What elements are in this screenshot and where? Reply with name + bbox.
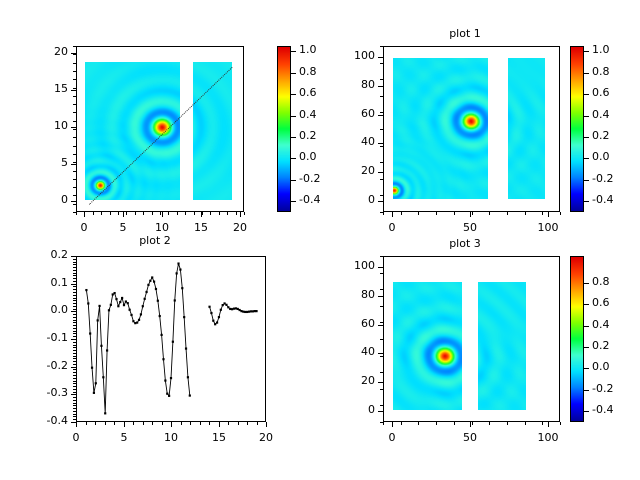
plot0-y-minor-tick	[73, 71, 76, 72]
plot0-y-minor-tick	[73, 162, 76, 163]
plot2-data-point	[231, 308, 233, 310]
plot1-y-ticklabel: 80	[333, 78, 375, 91]
plot3-x-tick	[392, 422, 393, 427]
plot2-y-minor-tick	[73, 322, 76, 323]
plot3-x-minor-tick	[525, 422, 526, 425]
plot2-data-point	[110, 304, 112, 306]
plot3-y-ticklabel: 20	[333, 374, 375, 387]
plot1-y-tick	[378, 115, 383, 116]
plot0-y-minor-tick	[73, 46, 76, 47]
plot2-data-point	[233, 308, 235, 310]
plot1-y-minor-tick	[380, 63, 383, 64]
plot3-image-panel	[478, 282, 526, 410]
plot0-x-tick	[84, 212, 85, 217]
plot1-y-ticklabel: 100	[333, 49, 375, 62]
plot2-data-point	[100, 345, 102, 347]
plot2-data-point	[210, 312, 212, 314]
plot2-y-minor-tick	[73, 320, 76, 321]
plot2-data-point	[187, 376, 189, 378]
plot0-y-minor-tick	[73, 137, 76, 138]
plot1-colorbar-tick	[584, 137, 589, 138]
plot3-x-minor-tick	[489, 422, 490, 425]
plot3-x-minor-tick	[472, 422, 473, 425]
plot1-colorbar-ticklabel: 0.2	[592, 129, 610, 142]
plot3-colorbar-tick	[584, 411, 589, 412]
plot0-colorbar-tick	[291, 94, 296, 95]
plot1-y-ticklabel: 0	[333, 193, 375, 206]
plot3-title: plot 3	[340, 237, 590, 250]
plot2-y-tick	[71, 367, 76, 368]
plot2-x-tick	[219, 422, 220, 427]
plot2-y-minor-tick	[73, 295, 76, 296]
plot0-y-minor-tick	[73, 63, 76, 64]
plot0-y-minor-tick	[73, 54, 76, 55]
plot1-x-minor-tick	[507, 212, 508, 215]
plot2-x-tick	[266, 422, 267, 427]
plot0-y-minor-tick	[73, 146, 76, 147]
plot1-x-tick	[392, 212, 393, 217]
plot2-y-tick	[71, 339, 76, 340]
plot2-data-point	[216, 322, 218, 324]
plot2-data-point	[252, 310, 254, 312]
plot2-x-tick	[124, 422, 125, 427]
plot1-colorbar-tick	[584, 116, 589, 117]
plot2-data-point	[151, 276, 153, 278]
plot2-y-minor-tick	[73, 372, 76, 373]
plot0-colorbar-tick	[291, 180, 296, 181]
plot3-x-ticklabel: 100	[524, 431, 572, 444]
plot2-data-point	[242, 311, 244, 313]
plot3-x-tick	[548, 422, 549, 427]
plot0-y-tick	[71, 90, 76, 91]
plot2-data-point	[119, 301, 121, 303]
plot3-y-minor-tick	[380, 273, 383, 274]
plot0-y-tick	[71, 164, 76, 165]
plot0-x-minor-tick	[135, 212, 136, 215]
plot2-data-point	[177, 262, 179, 264]
plot1-colorbar-ticklabel: -0.2	[592, 172, 613, 185]
plot3-y-tick	[378, 353, 383, 354]
plot1-y-minor-tick	[380, 46, 383, 47]
plot1-colorbar-tick	[584, 73, 589, 74]
plot2-data-point	[127, 302, 129, 304]
plot3-x-minor-tick	[542, 422, 543, 425]
plot2-data-point	[159, 315, 161, 317]
plot2-data-point	[153, 281, 155, 283]
plot2-data-point	[108, 309, 110, 311]
plot2-y-minor-tick	[73, 353, 76, 354]
plot2-data-point	[93, 392, 95, 394]
plot2-x-minor-tick	[238, 422, 239, 425]
plot0-y-minor-tick	[73, 179, 76, 180]
plot2-data-point	[138, 319, 140, 321]
plot2-y-tick	[71, 256, 76, 257]
plot2-y-tick	[71, 422, 76, 423]
plot2-y-minor-tick	[73, 306, 76, 307]
plot0-image-panel	[193, 62, 232, 200]
plot2-data-point	[164, 379, 166, 381]
plot2-y-minor-tick	[73, 375, 76, 376]
plot2-x-minor-tick	[105, 422, 106, 425]
plot2-y-minor-tick	[73, 364, 76, 365]
plot3-x-ticklabel: 50	[446, 431, 494, 444]
plot2-y-minor-tick	[73, 298, 76, 299]
plot3-y-minor-tick	[380, 422, 383, 423]
plot0-colorbar-ticklabel: -0.2	[299, 172, 320, 185]
plot1-y-tick	[378, 172, 383, 173]
plot2-y-minor-tick	[73, 325, 76, 326]
plot2-y-minor-tick	[73, 403, 76, 404]
plot1-y-tick	[378, 143, 383, 144]
plot1-y-minor-tick	[380, 112, 383, 113]
plot0-y-minor-tick	[73, 129, 76, 130]
plot2-x-minor-tick	[95, 422, 96, 425]
plot3-colorbar-tick	[584, 283, 589, 284]
plot2-data-point	[91, 367, 93, 369]
plot2-y-minor-tick	[73, 309, 76, 310]
plot2-x-minor-tick	[228, 422, 229, 425]
plot3-colorbar-ticklabel: 0.8	[592, 275, 610, 288]
plot3-colorbar-ticklabel: -0.2	[592, 382, 613, 395]
plot0-colorbar-ticklabel: -0.4	[299, 193, 320, 206]
plot2-x-tick	[171, 422, 172, 427]
plot2-data-point	[89, 332, 91, 334]
plot2-y-ticklabel: -0.3	[26, 386, 68, 399]
plot3-y-tick	[378, 296, 383, 297]
plot0-x-minor-tick	[76, 212, 77, 215]
plot2-data-point	[222, 304, 224, 306]
plot2-data-point	[95, 382, 97, 384]
plot2-data-point	[130, 314, 132, 316]
plot0-y-ticklabel: 10	[26, 119, 68, 132]
plot2-y-minor-tick	[73, 356, 76, 357]
plot2-series-path	[210, 303, 257, 324]
plot2-data-point	[106, 349, 108, 351]
plot0-x-minor-tick	[110, 212, 111, 215]
plot2-data-point	[235, 307, 237, 309]
plot0-y-minor-tick	[73, 79, 76, 80]
plot0-x-minor-tick	[210, 212, 211, 215]
plot0-y-ticklabel: 20	[26, 45, 68, 58]
plot2-data-point	[208, 306, 210, 308]
plot2-y-tick	[71, 284, 76, 285]
plot0-x-tick	[162, 212, 163, 217]
plot2-y-minor-tick	[73, 350, 76, 351]
plot1-x-minor-tick	[560, 212, 561, 215]
plot2-y-ticklabel: 0.0	[26, 303, 68, 316]
plot2-x-minor-tick	[209, 422, 210, 425]
plot2-data-point	[166, 393, 168, 395]
plot2-line-canvas	[77, 257, 265, 421]
plot2-data-point	[170, 377, 172, 379]
plot2-y-minor-tick	[73, 300, 76, 301]
plot2-x-minor-tick	[162, 422, 163, 425]
plot1-x-minor-tick	[454, 212, 455, 215]
plot2-y-ticklabel: -0.1	[26, 331, 68, 344]
plot1-y-minor-tick	[380, 79, 383, 80]
plot2-data-point	[254, 310, 256, 312]
plot2-y-minor-tick	[73, 278, 76, 279]
plot1-colorbar-ticklabel: 1.0	[592, 43, 610, 56]
plot1-y-ticklabel: 40	[333, 135, 375, 148]
plot0-y-ticklabel: 5	[26, 156, 68, 169]
plot2-x-minor-tick	[257, 422, 258, 425]
plot2-data-point	[144, 298, 146, 300]
plot2-y-minor-tick	[73, 361, 76, 362]
plot2-data-point	[140, 313, 142, 315]
plot0-x-minor-tick	[126, 212, 127, 215]
plot2-data-point	[183, 316, 185, 318]
plot1-colorbar-tick	[584, 180, 589, 181]
plot1-y-minor-tick	[380, 212, 383, 213]
plot2-y-minor-tick	[73, 389, 76, 390]
plot1-image-panel	[393, 58, 488, 199]
plot1-colorbar-ticklabel: -0.4	[592, 193, 613, 206]
plot1-x-minor-tick	[436, 212, 437, 215]
plot0-x-tick	[240, 212, 241, 217]
plot2-y-ticklabel: 0.2	[26, 248, 68, 261]
plot2-data-point	[161, 334, 163, 336]
plot2-data-point	[142, 305, 144, 307]
plot2-data-point	[129, 309, 131, 311]
plot3-axes[interactable]	[383, 256, 560, 422]
plot1-x-minor-tick	[489, 212, 490, 215]
plot2-data-point	[255, 310, 257, 312]
plot1-colorbar-tick	[584, 201, 589, 202]
plot2-data-point	[157, 300, 159, 302]
plot2-x-minor-tick	[181, 422, 182, 425]
plot1-x-ticklabel: 100	[524, 221, 572, 234]
plot0-axes[interactable]	[76, 46, 244, 212]
plot3-colorbar-tick	[584, 368, 589, 369]
plot3-x-minor-tick	[507, 422, 508, 425]
plot0-y-minor-tick	[73, 96, 76, 97]
plot1-axes[interactable]	[383, 46, 560, 212]
plot0-colorbar-tick	[291, 116, 296, 117]
plot0-y-tick	[71, 53, 76, 54]
plot0-colorbar-ticklabel: 0.8	[299, 65, 317, 78]
plot0-x-minor-tick	[118, 212, 119, 215]
plot3-y-ticklabel: 100	[333, 259, 375, 272]
plot3-y-minor-tick	[380, 322, 383, 323]
plot0-y-minor-tick	[73, 187, 76, 188]
plot1-title: plot 1	[340, 27, 590, 40]
plot2-data-point	[229, 308, 231, 310]
plot2-data-point	[214, 323, 216, 325]
plot0-x-minor-tick	[244, 212, 245, 215]
plot2-y-minor-tick	[73, 411, 76, 412]
plot2-y-minor-tick	[73, 381, 76, 382]
plot2-y-minor-tick	[73, 273, 76, 274]
plot2-x-ticklabel: 10	[147, 431, 195, 444]
plot1-y-minor-tick	[380, 96, 383, 97]
plot1-x-tick	[548, 212, 549, 217]
plot2-data-point	[162, 358, 164, 360]
plot0-x-minor-tick	[101, 212, 102, 215]
plot2-x-minor-tick	[152, 422, 153, 425]
plot0-y-minor-tick	[73, 112, 76, 113]
plot2-y-minor-tick	[73, 347, 76, 348]
plot3-y-minor-tick	[380, 306, 383, 307]
plot2-y-ticklabel: -0.4	[26, 414, 68, 427]
plot3-y-minor-tick	[380, 372, 383, 373]
plot3-x-minor-tick	[560, 422, 561, 425]
plot3-x-minor-tick	[401, 422, 402, 425]
plot0-y-minor-tick	[73, 88, 76, 89]
plot3-y-minor-tick	[380, 289, 383, 290]
plot2-data-point	[97, 319, 99, 321]
plot1-y-ticklabel: 20	[333, 164, 375, 177]
plot2-data-point	[155, 288, 157, 290]
plot1-x-minor-tick	[401, 212, 402, 215]
plot2-data-point	[147, 284, 149, 286]
plot2-series-path	[86, 264, 189, 414]
plot2-y-minor-tick	[73, 408, 76, 409]
plot2-data-point	[121, 297, 123, 299]
plot2-data-point	[237, 308, 239, 310]
plot2-data-point	[172, 341, 174, 343]
plot2-data-point	[102, 376, 104, 378]
plot1-y-tick	[378, 57, 383, 58]
plot0-y-minor-tick	[73, 212, 76, 213]
plot2-data-point	[227, 306, 229, 308]
plot2-data-point	[123, 304, 125, 306]
plot2-data-point	[149, 280, 151, 282]
plot0-x-minor-tick	[143, 212, 144, 215]
plot0-x-minor-tick	[202, 212, 203, 215]
plot1-y-minor-tick	[380, 195, 383, 196]
plot3-y-tick	[378, 411, 383, 412]
plot1-colorbar-tick	[584, 158, 589, 159]
plot2-y-minor-tick	[73, 317, 76, 318]
plot2-y-ticklabel: -0.2	[26, 359, 68, 372]
plot1-y-minor-tick	[380, 129, 383, 130]
plot2-y-minor-tick	[73, 303, 76, 304]
plot2-y-minor-tick	[73, 378, 76, 379]
plot2-data-point	[189, 394, 191, 396]
plot1-colorbar-ticklabel: 0.8	[592, 65, 610, 78]
plot2-data-point	[125, 300, 127, 302]
plot2-data-point	[114, 292, 116, 294]
plot0-colorbar-ticklabel: 0.4	[299, 108, 317, 121]
plot3-colorbar-ticklabel: 0.4	[592, 318, 610, 331]
plot2-data-point	[132, 320, 134, 322]
plot3-image-panel	[393, 282, 462, 410]
plot2-x-minor-tick	[190, 422, 191, 425]
plot2-x-ticklabel: 5	[100, 431, 148, 444]
plot0-y-minor-tick	[73, 171, 76, 172]
plot2-y-minor-tick	[73, 275, 76, 276]
plot2-data-point	[179, 268, 181, 270]
plot3-y-tick	[378, 382, 383, 383]
plot3-colorbar-tick	[584, 390, 589, 391]
plot2-x-minor-tick	[133, 422, 134, 425]
plot2-data-point	[145, 291, 147, 293]
plot2-data-point	[185, 347, 187, 349]
plot0-y-ticklabel: 0	[26, 193, 68, 206]
plot3-colorbar[interactable]	[570, 256, 584, 422]
plot3-colorbar-ticklabel: 0.6	[592, 296, 610, 309]
plot1-colorbar[interactable]	[570, 46, 584, 212]
plot1-colorbar-ticklabel: 0.6	[592, 86, 610, 99]
plot0-y-minor-tick	[73, 121, 76, 122]
plot0-colorbar-ticklabel: 1.0	[299, 43, 317, 56]
plot3-y-minor-tick	[380, 356, 383, 357]
plot1-colorbar-ticklabel: 0.4	[592, 108, 610, 121]
plot2-y-minor-tick	[73, 289, 76, 290]
plot1-x-ticklabel: 50	[446, 221, 494, 234]
plot3-y-ticklabel: 80	[333, 288, 375, 301]
plot0-x-ticklabel: 20	[216, 221, 264, 234]
plot0-x-minor-tick	[236, 212, 237, 215]
plot3-x-minor-tick	[418, 422, 419, 425]
plot2-data-point	[174, 299, 176, 301]
plot2-y-tick	[71, 311, 76, 312]
plot2-y-minor-tick	[73, 270, 76, 271]
plot2-y-minor-tick	[73, 400, 76, 401]
plot2-data-point	[85, 289, 87, 291]
plot0-colorbar-ticklabel: 0.0	[299, 150, 317, 163]
plot2-x-ticklabel: 20	[242, 431, 290, 444]
plot2-data-point	[115, 298, 117, 300]
plot2-y-minor-tick	[73, 392, 76, 393]
plot2-data-point	[220, 309, 222, 311]
plot2-data-point	[225, 304, 227, 306]
plot1-y-tick	[378, 201, 383, 202]
plot3-colorbar-ticklabel: -0.4	[592, 403, 613, 416]
plot3-colorbar-tick	[584, 326, 589, 327]
plot2-x-minor-tick	[143, 422, 144, 425]
plot0-x-minor-tick	[219, 212, 220, 215]
plot2-data-point	[218, 316, 220, 318]
plot3-y-minor-tick	[380, 405, 383, 406]
plot2-title: plot 2	[30, 234, 280, 247]
plot3-colorbar-ticklabel: 0.0	[592, 360, 610, 373]
plot1-x-tick	[470, 212, 471, 217]
plot1-y-minor-tick	[380, 146, 383, 147]
plot2-y-minor-tick	[73, 369, 76, 370]
plot0-x-minor-tick	[227, 212, 228, 215]
plot0-y-minor-tick	[73, 154, 76, 155]
plot2-y-tick	[71, 394, 76, 395]
plot0-x-minor-tick	[177, 212, 178, 215]
plot2-data-point	[212, 320, 214, 322]
plot2-y-minor-tick	[73, 414, 76, 415]
plot2-y-minor-tick	[73, 328, 76, 329]
plot3-colorbar-ticklabel: 0.2	[592, 339, 610, 352]
plot2-data-point	[98, 305, 100, 307]
plot1-colorbar-tick	[584, 94, 589, 95]
plot2-y-minor-tick	[73, 331, 76, 332]
plot0-colorbar[interactable]	[277, 46, 291, 212]
plot3-x-minor-tick	[383, 422, 384, 425]
plot2-y-minor-tick	[73, 314, 76, 315]
plot2-axes[interactable]	[76, 256, 266, 422]
plot0-colorbar-tick	[291, 137, 296, 138]
plot3-y-tick	[378, 267, 383, 268]
plot0-x-tick	[123, 212, 124, 217]
plot2-y-minor-tick	[73, 336, 76, 337]
plot3-y-minor-tick	[380, 256, 383, 257]
plot2-y-minor-tick	[73, 358, 76, 359]
plot2-x-minor-tick	[247, 422, 248, 425]
plot1-image-panel	[508, 58, 545, 199]
plot3-x-minor-tick	[436, 422, 437, 425]
plot2-x-minor-tick	[114, 422, 115, 425]
plot2-data-point	[244, 311, 246, 313]
plot2-y-minor-tick	[73, 259, 76, 260]
plot1-y-minor-tick	[380, 162, 383, 163]
